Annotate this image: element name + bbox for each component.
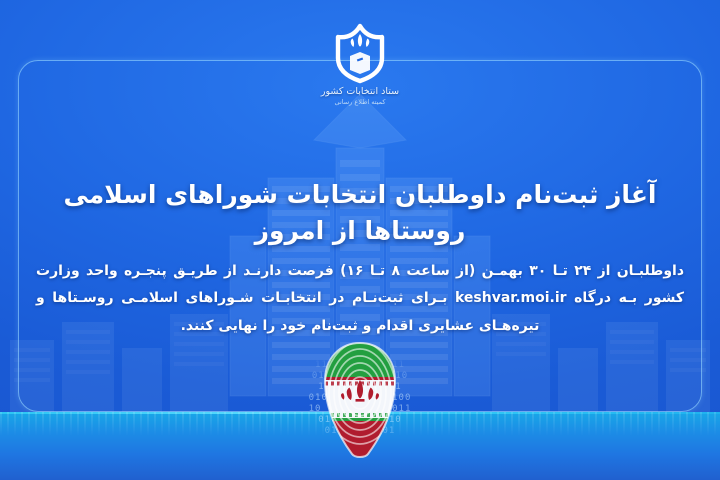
poster-canvas: ستاد انتخابات کشور کمیته اطلاع رسانی آغا…: [0, 0, 720, 480]
organization-logo: ستاد انتخابات کشور کمیته اطلاع رسانی: [304, 22, 416, 106]
registration-url[interactable]: keshvar.moi.ir: [455, 290, 567, 306]
logo-name: ستاد انتخابات کشور: [304, 87, 416, 98]
page-title: آغاز ثبت‌نام داوطلبان انتخابات شوراهای ا…: [28, 177, 692, 250]
body-paragraph: داوطلبـان از ۲۴ تـا ۳۰ بهمـن (از ساعت ۸ …: [36, 258, 684, 340]
fingerprint-iran-flag-icon: [285, 337, 435, 462]
elections-shield-ballot-icon: [326, 22, 394, 84]
logo-subtitle: کمیته اطلاع رسانی: [304, 99, 416, 106]
